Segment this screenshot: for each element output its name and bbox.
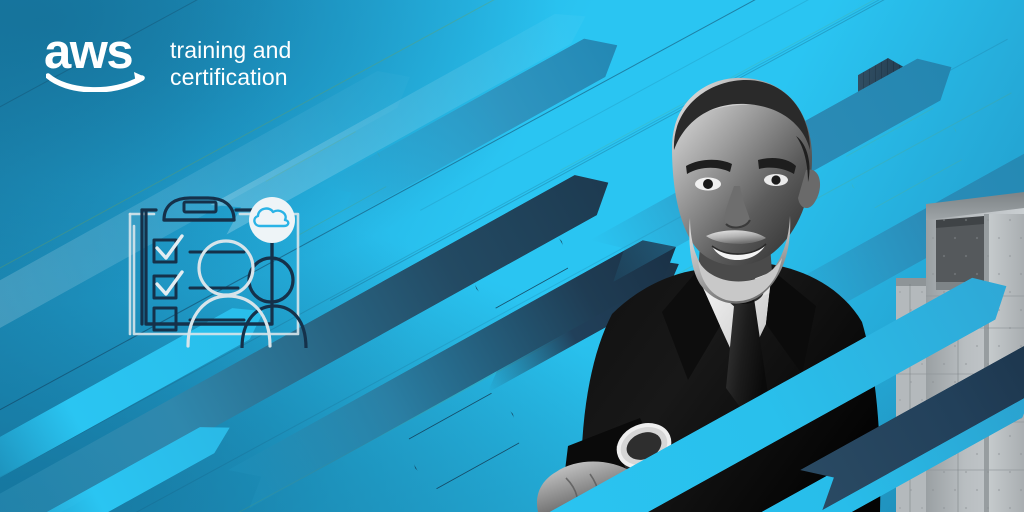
clipboard-checklist-people-cloud-icon <box>112 196 308 348</box>
aws-training-banner: aws training and certification <box>0 0 1024 512</box>
aws-logo-mark: aws <box>44 30 148 92</box>
aws-logo-tagline: training and certification <box>170 30 291 91</box>
aws-smile-swoosh-icon <box>46 70 148 92</box>
aws-wordmark: aws <box>44 30 148 74</box>
aws-logo: aws training and certification <box>44 30 291 92</box>
